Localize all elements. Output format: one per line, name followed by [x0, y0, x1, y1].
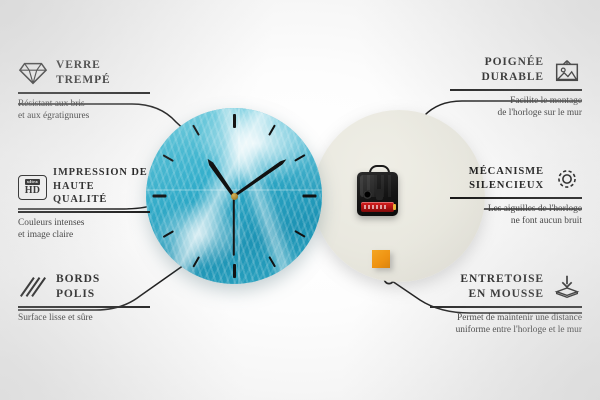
battery-label	[364, 205, 388, 209]
title-line-2: POLIS	[56, 287, 100, 302]
desc-line-2: et image claire	[18, 229, 150, 241]
title-line-1: IMPRESSION DE	[53, 166, 150, 180]
title-line-1: VERRE	[56, 58, 111, 73]
title-line-1: POIGNÉE	[450, 55, 544, 70]
ultra-hd-icon: ultra HD	[18, 175, 45, 198]
mechanism-dial	[363, 190, 372, 199]
callout-description: Permet de maintenir une distance uniform…	[430, 312, 582, 337]
callout-header: POIGNÉE DURABLE	[450, 55, 582, 85]
hour-marker	[302, 195, 316, 198]
desc-line-2: et aux égratignures	[18, 110, 150, 122]
callout-title: POIGNÉE DURABLE	[450, 55, 544, 85]
foam-spacer	[372, 250, 390, 268]
divider	[18, 306, 150, 308]
badge-hd-text: HD	[25, 186, 41, 196]
desc-line-1: Les aiguilles de l'horloge	[450, 203, 582, 215]
callout-impression-haute-qualite: ultra HD IMPRESSION DE HAUTE QUALITÉ Cou…	[18, 166, 150, 242]
desc-line-1: Résistant aux bris	[18, 98, 150, 110]
callout-header: BORDS POLIS	[18, 272, 150, 302]
desc-line-1: Facilite le montage	[450, 95, 582, 107]
callout-description: Couleurs intenses et image claire	[18, 217, 150, 242]
callout-entretoise-en-mousse: ENTRETOISE EN MOUSSE Permet de maintenir…	[430, 272, 582, 337]
desc-line-1: Couleurs intenses	[18, 217, 150, 229]
mechanism-switch	[376, 189, 383, 200]
gear-icon	[552, 166, 582, 192]
callout-poignee-durable: POIGNÉE DURABLE Facilite le montage de l…	[450, 55, 582, 120]
callout-bords-polis: BORDS POLIS Surface lisse et sûre	[18, 272, 150, 324]
desc-line-1: Surface lisse et sûre	[18, 312, 150, 324]
title-line-2: HAUTE QUALITÉ	[53, 180, 150, 207]
callout-mecanisme-silencieux: MÉCANISME SILENCIEUX Les aiguilles de l'…	[450, 165, 582, 227]
divider	[18, 92, 150, 94]
divider	[430, 306, 582, 308]
desc-line-2: ne font aucun bruit	[450, 215, 582, 227]
title-line-2: TREMPÉ	[56, 73, 111, 88]
callout-description: Résistant aux bris et aux égratignures	[18, 98, 150, 123]
infographic-canvas: VERRE TREMPÉ Résistant aux bris et aux é…	[0, 0, 600, 400]
callout-title: ENTRETOISE EN MOUSSE	[430, 272, 544, 302]
callout-header: MÉCANISME SILENCIEUX	[450, 165, 582, 193]
callout-header: ENTRETOISE EN MOUSSE	[430, 272, 582, 302]
title-line-1: BORDS	[56, 272, 100, 287]
callout-description: Les aiguilles de l'horloge ne font aucun…	[450, 203, 582, 228]
center-hub	[231, 193, 238, 200]
polished-edges-icon	[18, 274, 48, 300]
callout-verre-trempe: VERRE TREMPÉ Résistant aux bris et aux é…	[18, 58, 150, 123]
callout-header: ultra HD IMPRESSION DE HAUTE QUALITÉ	[18, 166, 150, 207]
callout-description: Facilite le montage de l'horloge sur le …	[450, 95, 582, 120]
title-line-1: ENTRETOISE	[430, 272, 544, 287]
diamond-icon	[18, 60, 48, 86]
title-line-2: DURABLE	[450, 70, 544, 85]
desc-line-2: uniforme entre l'horloge et le mur	[430, 324, 582, 336]
callout-description: Surface lisse et sûre	[18, 312, 150, 324]
callout-header: VERRE TREMPÉ	[18, 58, 150, 88]
callout-title: BORDS POLIS	[56, 272, 100, 302]
hanger-frame-icon	[552, 57, 582, 83]
divider	[450, 197, 582, 199]
second-hand	[233, 196, 235, 256]
desc-line-2: de l'horloge sur le mur	[450, 107, 582, 119]
callout-title: VERRE TREMPÉ	[56, 58, 111, 88]
foam-spacer-icon	[552, 274, 582, 300]
title-line-1: MÉCANISME	[450, 165, 544, 179]
quartz-mechanism	[357, 172, 398, 216]
divider	[18, 211, 150, 213]
title-line-2: EN MOUSSE	[430, 287, 544, 302]
divider	[450, 89, 582, 91]
clock-front-face	[146, 108, 322, 284]
hd-badge: ultra HD	[18, 175, 47, 200]
callout-title: IMPRESSION DE HAUTE QUALITÉ	[53, 166, 150, 207]
hour-marker	[152, 195, 166, 198]
battery	[361, 202, 394, 212]
title-line-2: SILENCIEUX	[450, 179, 544, 193]
hour-marker	[233, 114, 236, 128]
desc-line-1: Permet de maintenir une distance	[430, 312, 582, 324]
hour-marker	[233, 264, 236, 278]
callout-title: MÉCANISME SILENCIEUX	[450, 165, 544, 193]
